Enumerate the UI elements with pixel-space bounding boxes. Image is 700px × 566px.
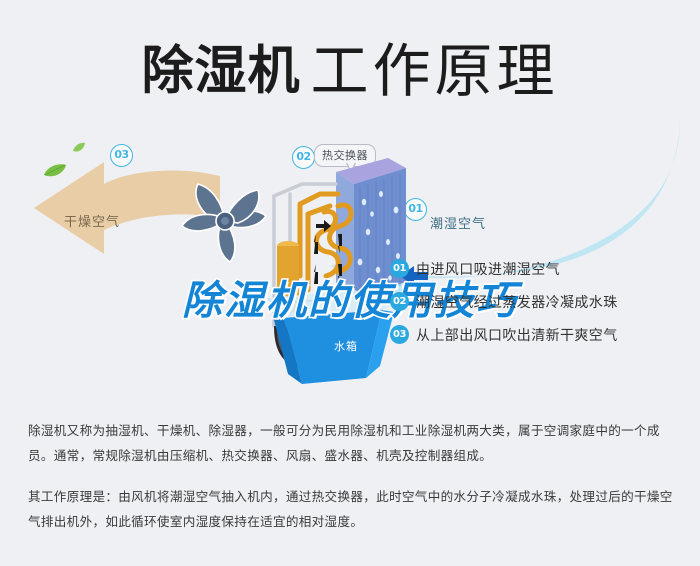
step-item: 02 潮湿空气经过蒸发器冷凝成水珠	[390, 285, 690, 318]
step-badge: 03	[390, 325, 409, 344]
step-badge: 01	[390, 259, 409, 278]
body-paragraph-2: 其工作原理是：由风机将潮湿空气抽入机内，通过热交换器，此时空气中的水分子冷凝成水…	[28, 484, 674, 534]
article-body: 除湿机又称为抽湿机、干燥机、除湿器，一般可分为民用除湿机和工业除湿机两大类，属于…	[28, 418, 674, 534]
dry-air-label: 干燥空气	[64, 211, 120, 230]
body-paragraph-1: 除湿机又称为抽湿机、干燥机、除湿器，一般可分为民用除湿机和工业除湿机两大类，属于…	[28, 418, 674, 468]
step-badge: 02	[390, 292, 409, 311]
steps-list: 01 由进风口吸进潮湿空气 02 潮湿空气经过蒸发器冷凝成水珠 03 从上部出风…	[390, 252, 690, 351]
water-tank-label: 水箱	[334, 338, 358, 354]
page-title: 除湿机工作原理	[0, 24, 700, 108]
diagram-badge-03: 03	[110, 144, 133, 167]
step-item: 03 从上部出风口吹出清新干爽空气	[390, 318, 690, 351]
humid-air-label: 潮湿空气	[430, 213, 486, 232]
step-label: 潮湿空气经过蒸发器冷凝成水珠	[416, 292, 618, 312]
step-label: 由进风口吸进潮湿空气	[416, 259, 560, 279]
page-title-light: 工作原理	[311, 37, 559, 105]
page-title-bold: 除湿机	[141, 42, 300, 102]
step-item: 01 由进风口吸进潮湿空气	[390, 252, 690, 285]
page-root: 除湿机工作原理 干燥空气 03 潮湿空气 01 02	[0, 0, 700, 566]
step-label: 从上部出风口吹出清新干爽空气	[416, 325, 618, 345]
